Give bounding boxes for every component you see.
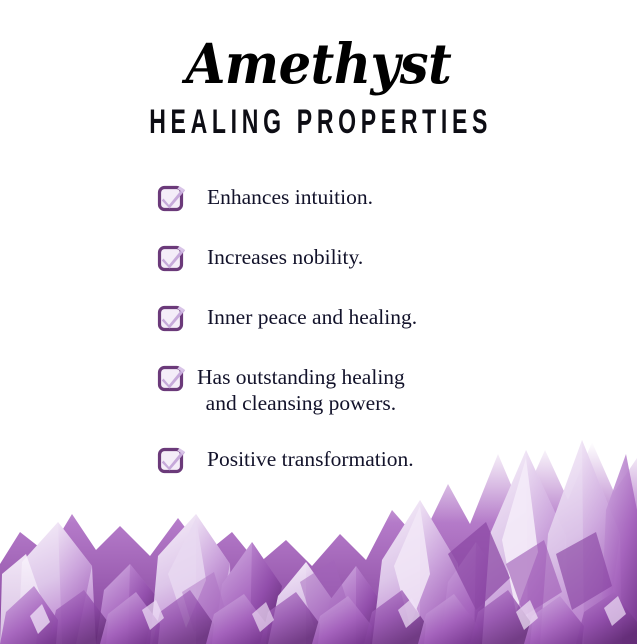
list-item-label: Enhances intuition. xyxy=(187,182,373,210)
checked-checkbox-icon xyxy=(157,184,187,214)
amethyst-crystal-cluster xyxy=(0,414,637,644)
list-item: Enhances intuition. xyxy=(157,182,507,214)
checked-checkbox-icon xyxy=(157,244,187,274)
page-subtitle: HEALING PROPERTIES xyxy=(89,104,548,139)
list-item: Has outstanding healing and cleansing po… xyxy=(157,362,507,416)
list-item: Increases nobility. xyxy=(157,242,507,274)
page-title: Amethyst xyxy=(22,36,614,91)
checked-checkbox-icon xyxy=(157,364,187,394)
list-item-label: Has outstanding healing and cleansing po… xyxy=(187,362,405,416)
checked-checkbox-icon xyxy=(157,304,187,334)
list-item-label: Increases nobility. xyxy=(187,242,363,270)
poster-header: Amethyst HEALING PROPERTIES xyxy=(0,0,637,137)
list-item: Inner peace and healing. xyxy=(157,302,507,334)
amethyst-healing-properties-poster: Amethyst HEALING PROPERTIES Enhances int… xyxy=(0,0,637,644)
list-item-label: Inner peace and healing. xyxy=(187,302,417,330)
